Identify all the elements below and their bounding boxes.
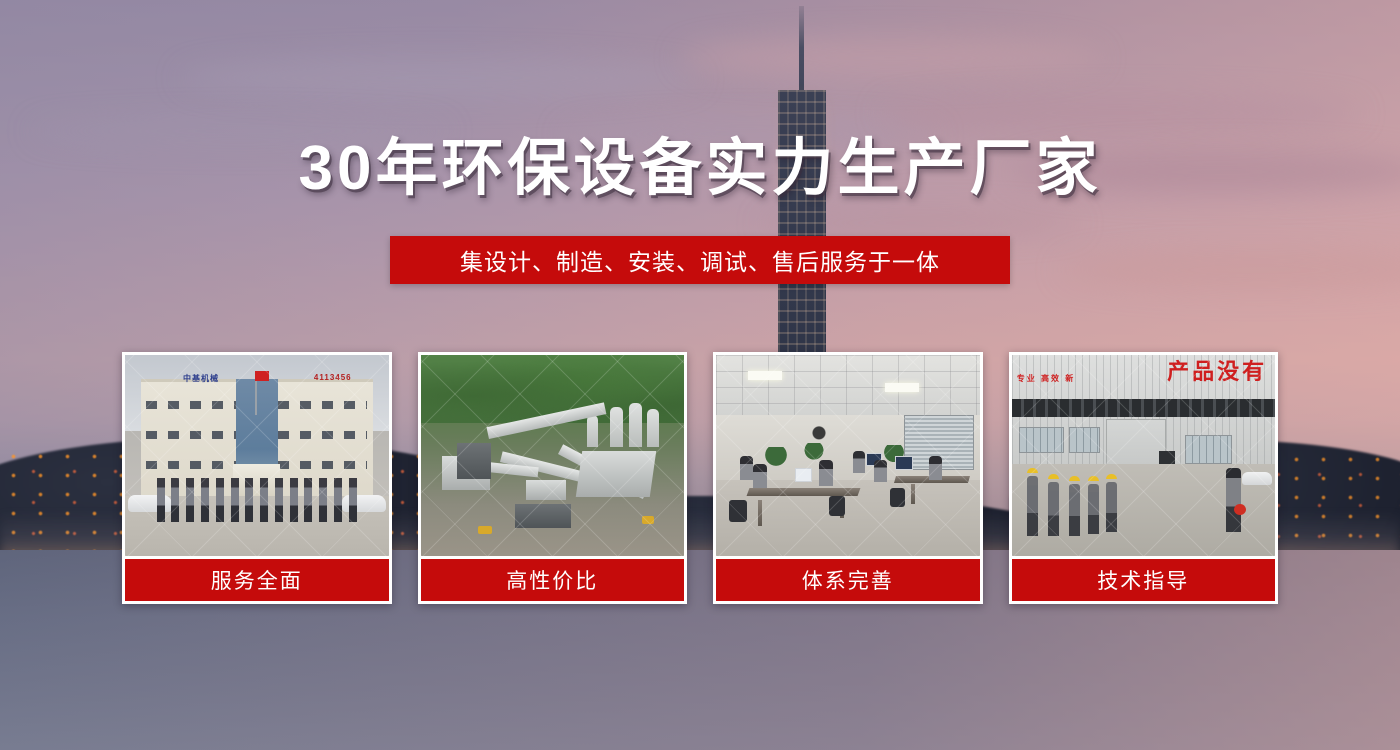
page-title: 30年环保设备实力生产厂家 bbox=[0, 138, 1400, 200]
feature-card-label: 高性价比 bbox=[421, 559, 685, 601]
feature-card[interactable]: 体系完善 bbox=[713, 352, 983, 604]
office-interior-staff-photo bbox=[716, 355, 980, 556]
building-sign-text: 中基机械 bbox=[183, 373, 219, 384]
factory-wall-text: 产品没有 bbox=[1167, 361, 1267, 383]
subtitle-text: 集设计、制造、安装、调试、售后服务于一体 bbox=[460, 243, 940, 277]
feature-card-label: 服务全面 bbox=[125, 559, 389, 601]
feature-card[interactable]: 产品没有 专业 高效 新 bbox=[1009, 352, 1279, 604]
feature-card-label: 技术指导 bbox=[1012, 559, 1276, 601]
building-phone-text: 4113456 bbox=[314, 373, 352, 382]
feature-card-row: 中基机械 4113456 服务全面 bbox=[122, 352, 1278, 604]
factory-wall-slogan: 专业 高效 新 bbox=[1017, 373, 1075, 384]
promotional-hero-banner: 30年环保设备实力生产厂家 集设计、制造、安装、调试、售后服务于一体 bbox=[0, 0, 1400, 750]
feature-card-label: 体系完善 bbox=[716, 559, 980, 601]
subtitle-banner: 集设计、制造、安装、调试、售后服务于一体 bbox=[390, 236, 1010, 284]
factory-yard-workers-photo: 产品没有 专业 高效 新 bbox=[1012, 355, 1276, 556]
feature-card[interactable]: 高性价比 bbox=[418, 352, 688, 604]
aerial-production-plant-photo bbox=[421, 355, 685, 556]
feature-card[interactable]: 中基机械 4113456 服务全面 bbox=[122, 352, 392, 604]
company-headquarters-building-photo: 中基机械 4113456 bbox=[125, 355, 389, 556]
